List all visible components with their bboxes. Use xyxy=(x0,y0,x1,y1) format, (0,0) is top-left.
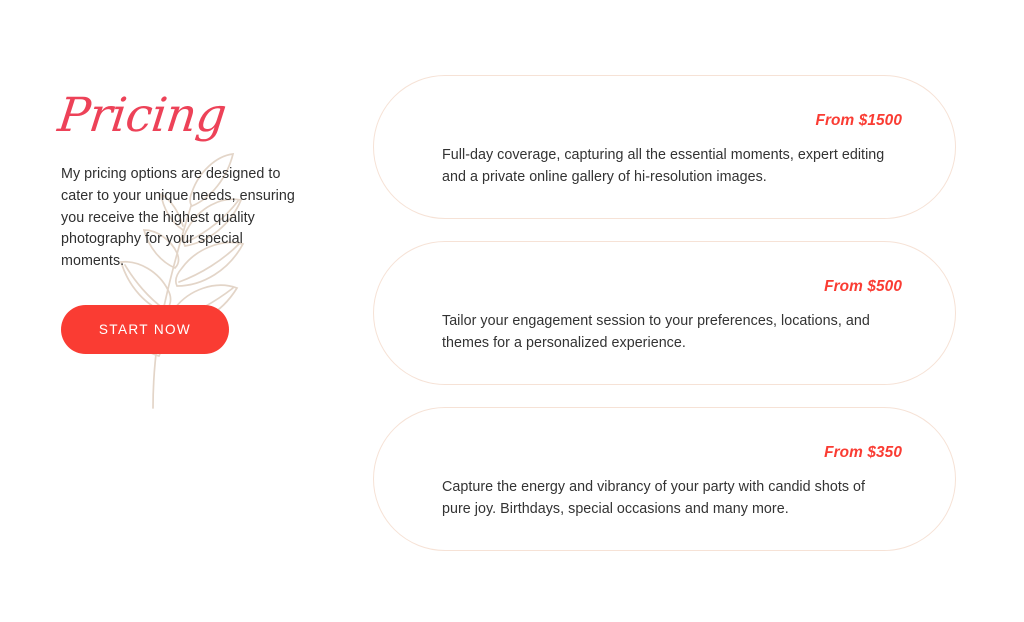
card-description: Tailor your engagement session to your p… xyxy=(442,311,894,354)
pricing-description: My pricing options are designed to cater… xyxy=(61,164,299,273)
page-title: Pricing xyxy=(54,90,364,148)
card-description: Capture the energy and vibrancy of your … xyxy=(442,477,894,520)
price-label: From $1500 xyxy=(815,112,902,130)
pricing-card[interactable]: From $500 Tailor your engagement session… xyxy=(373,241,956,385)
pricing-card[interactable]: From $350 Capture the energy and vibranc… xyxy=(373,407,956,551)
pricing-section: Pricing My pricing options are designed … xyxy=(0,0,1024,622)
pricing-intro-column: Pricing My pricing options are designed … xyxy=(61,90,361,380)
card-description: Full-day coverage, capturing all the ess… xyxy=(442,145,894,188)
price-label: From $350 xyxy=(824,444,902,462)
pricing-card[interactable]: From $1500 Full-day coverage, capturing … xyxy=(373,75,956,219)
price-label: From $500 xyxy=(824,278,902,296)
start-now-button[interactable]: START NOW xyxy=(61,305,229,354)
pricing-cards-list: From $1500 Full-day coverage, capturing … xyxy=(373,75,956,551)
